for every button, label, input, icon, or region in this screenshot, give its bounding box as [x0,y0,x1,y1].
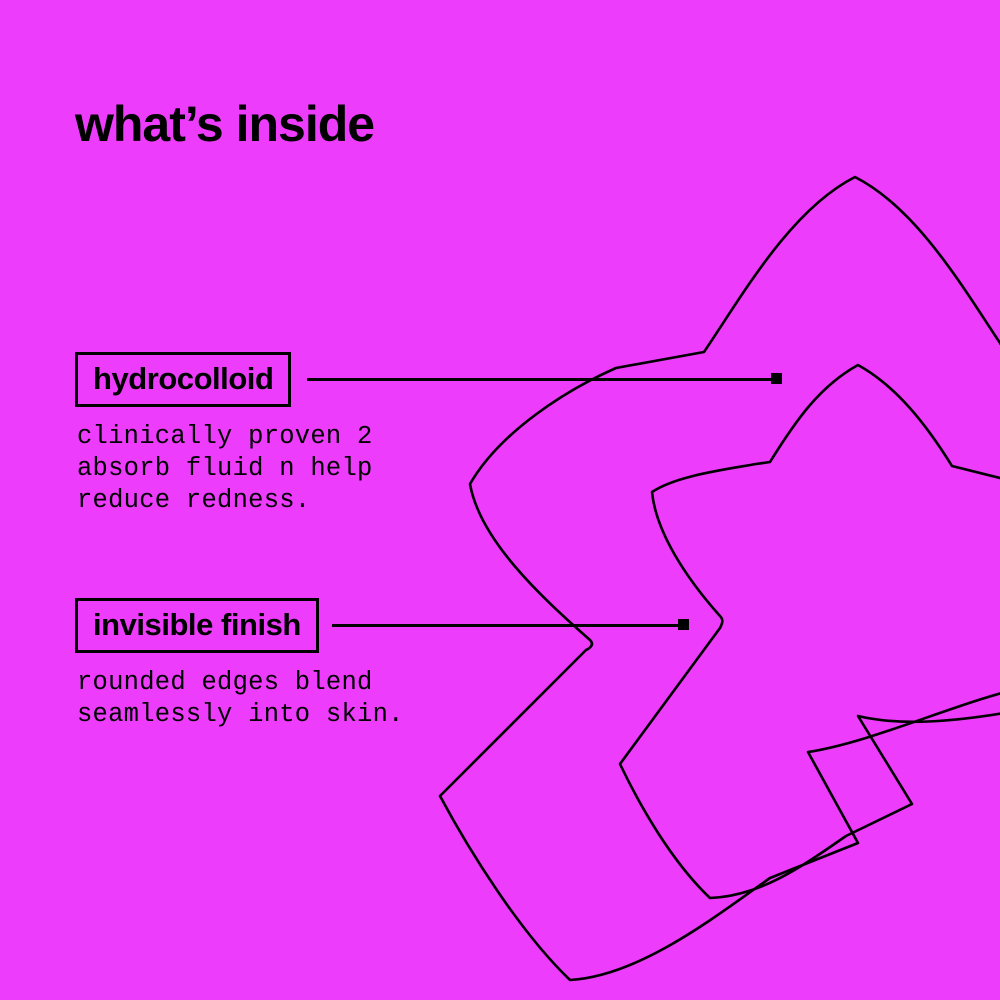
leader-endpoint-hydrocolloid [771,373,782,384]
callout-description-hydrocolloid: clinically proven 2 absorb fluid n help … [77,421,373,517]
outer-star-outline-icon [440,177,1000,980]
callout-hydrocolloid: hydrocolloid clinically proven 2 absorb … [75,352,373,517]
callout-invisible-finish: invisible finish rounded edges blend sea… [75,598,404,731]
callout-description-invisible-finish: rounded edges blend seamlessly into skin… [77,667,404,731]
inner-star-outline-icon [620,365,1000,898]
leader-endpoint-invisible-finish [678,619,689,630]
page-title: what’s inside [75,97,374,151]
poster-canvas: what’s inside hydrocolloid clinically pr… [0,0,1000,1000]
callout-box-hydrocolloid[interactable]: hydrocolloid [75,352,291,407]
callout-label-invisible-finish: invisible finish [93,607,301,642]
callout-label-hydrocolloid: hydrocolloid [93,361,273,396]
leader-line-hydrocolloid [307,378,781,381]
callout-box-invisible-finish[interactable]: invisible finish [75,598,319,653]
